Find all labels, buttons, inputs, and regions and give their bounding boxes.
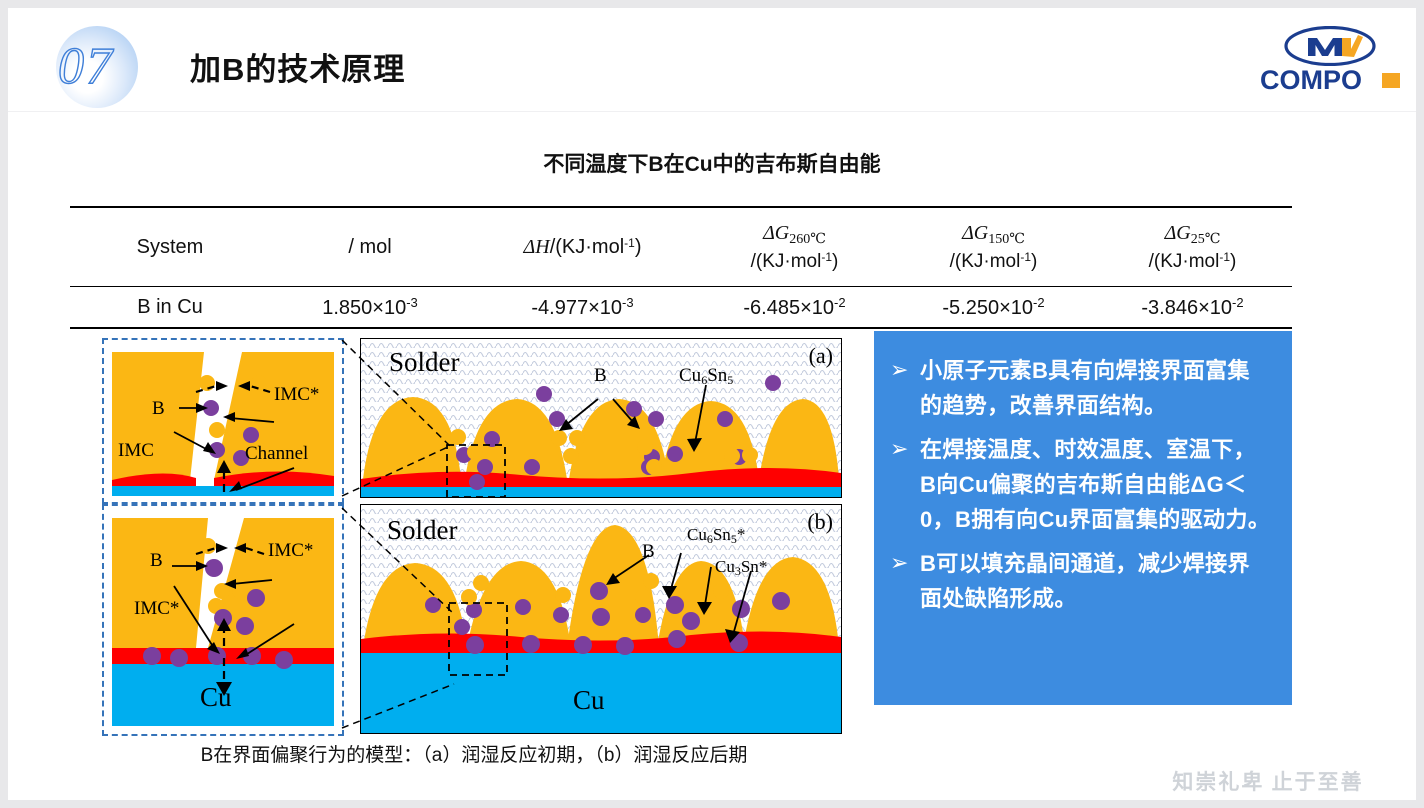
cell-dg150: -5.250×10-2 xyxy=(894,287,1093,329)
inset-b-label-b: B xyxy=(150,550,163,572)
bullet-arrow-icon: ➢ xyxy=(890,546,920,616)
cell-enthalpy: -4.977×10-3 xyxy=(470,287,695,329)
panel-a-label-cu6sn5: Cu6Sn5 xyxy=(679,365,733,388)
figure-area: B IMC IMC* Channel xyxy=(94,336,854,734)
inset-b-label-cu: Cu xyxy=(200,682,232,713)
col-header-mol: / mol xyxy=(270,207,470,287)
dg260-unit: /(KJ·mol-1) xyxy=(695,250,894,273)
dg25-unit: /(KJ·mol-1) xyxy=(1093,250,1292,273)
cell-mol: 1.850×10-3 xyxy=(270,287,470,329)
main-panel-b: (b) Solder B Cu6Sn5* Cu3Sn* Cu xyxy=(360,504,842,734)
inset-b-label-imc-star-left: IMC* xyxy=(134,598,179,620)
page-title: 加B的技术原理 xyxy=(190,44,405,89)
bullet-text-2: 在焊接温度、时效温度、室温下，B向Cu偏聚的吉布斯自由能ΔG＜0，B拥有向Cu界… xyxy=(920,432,1272,537)
table-header-row: System / mol ΔH/(KJ·mol-1) ΔG260℃ /(KJ·m… xyxy=(70,207,1292,287)
bullet-text-3: B可以填充晶间通道，减少焊接界面处缺陷形成。 xyxy=(920,546,1272,616)
inset-a-label-imc: IMC xyxy=(118,440,154,462)
compo-logo: COMPO xyxy=(1260,26,1400,100)
dg25-symbol: ΔG25℃ xyxy=(1165,222,1221,244)
bullet-arrow-icon: ➢ xyxy=(890,353,920,423)
main-panel-a: (a) Solder B Cu6Sn5 xyxy=(360,338,842,498)
dg150-unit: /(KJ·mol-1) xyxy=(894,250,1093,273)
dg150-temp: 150℃ xyxy=(988,232,1025,247)
logo-wordmark: COMPO xyxy=(1260,64,1380,96)
dh-unit-exp: -1 xyxy=(624,236,635,250)
table-title: 不同温度下B在Cu中的吉布斯自由能 xyxy=(8,148,1416,178)
slide-canvas: 07 加B的技术原理 COMPO 不同温度下B在Cu中的吉布斯自由能 Syste… xyxy=(8,8,1416,800)
dg150-symbol: ΔG150℃ xyxy=(962,222,1025,244)
cell-dg25: -3.846×10-2 xyxy=(1093,287,1292,329)
panel-b-label-cu6sn5-star: Cu6Sn5* xyxy=(687,525,745,547)
bullet-item-1: ➢ 小原子元素B具有向焊接界面富集的趋势，改善界面结构。 xyxy=(890,353,1272,423)
figure-caption: B在界面偏聚行为的模型：（a）润湿反应初期，（b）润湿反应后期 xyxy=(94,740,854,767)
col-header-system: System xyxy=(70,207,270,287)
inset-panel-b: B IMC* IMC* Cu xyxy=(102,504,344,736)
dg260-symbol: ΔG260℃ xyxy=(763,222,826,244)
bullet-arrow-icon: ➢ xyxy=(890,432,920,537)
panel-a-tag: (a) xyxy=(809,343,833,369)
inset-panel-a: B IMC IMC* Channel xyxy=(102,338,344,504)
logo-square-accent xyxy=(1382,73,1400,88)
key-points-box: ➢ 小原子元素B具有向焊接界面富集的趋势，改善界面结构。 ➢ 在焊接温度、时效温… xyxy=(874,331,1292,705)
col-header-enthalpy: ΔH/(KJ·mol-1) xyxy=(470,207,695,287)
dh-symbol: ΔH xyxy=(524,236,550,258)
dh-unit-prefix: /(KJ·mol xyxy=(550,236,624,258)
footer-motto: 知崇礼卑 止于至善 xyxy=(1138,766,1398,796)
col-header-dg150: ΔG150℃ /(KJ·mol-1) xyxy=(894,207,1093,287)
header-divider xyxy=(8,111,1416,112)
inset-a-label-b: B xyxy=(152,398,165,420)
panel-a-label-b: B xyxy=(594,365,607,387)
panel-a-label-solder: Solder xyxy=(389,347,460,378)
bullet-item-3: ➢ B可以填充晶间通道，减少焊接界面处缺陷形成。 xyxy=(890,546,1272,616)
inset-a-graphic xyxy=(104,340,342,502)
panel-b-tag: (b) xyxy=(807,509,833,535)
m-oval-icon xyxy=(1284,26,1376,66)
table-row: B in Cu 1.850×10-3 -4.977×10-3 -6.485×10… xyxy=(70,287,1292,329)
col-header-dg25: ΔG25℃ /(KJ·mol-1) xyxy=(1093,207,1292,287)
dg25-temp: 25℃ xyxy=(1191,232,1221,247)
col-header-dg260: ΔG260℃ /(KJ·mol-1) xyxy=(695,207,894,287)
dh-unit-suffix: ) xyxy=(635,236,642,258)
inset-a-label-channel: Channel xyxy=(245,443,308,465)
slide-header: 07 加B的技术原理 COMPO xyxy=(8,8,1416,112)
inset-a-label-imc-star: IMC* xyxy=(274,384,319,406)
cell-system: B in Cu xyxy=(70,287,270,329)
bullet-item-2: ➢ 在焊接温度、时效温度、室温下，B向Cu偏聚的吉布斯自由能ΔG＜0，B拥有向C… xyxy=(890,432,1272,537)
section-number: 07 xyxy=(58,34,168,100)
panel-b-label-solder: Solder xyxy=(387,515,458,546)
cell-dg260: -6.485×10-2 xyxy=(695,287,894,329)
panel-b-label-cu3sn-star: Cu3Sn* xyxy=(715,557,767,579)
bullet-text-1: 小原子元素B具有向焊接界面富集的趋势，改善界面结构。 xyxy=(920,353,1272,423)
inset-b-label-imc-star-right: IMC* xyxy=(268,540,313,562)
panel-b-label-cu: Cu xyxy=(573,685,605,716)
gibbs-table: System / mol ΔH/(KJ·mol-1) ΔG260℃ /(KJ·m… xyxy=(70,206,1292,329)
panel-b-label-b: B xyxy=(642,541,655,563)
dg260-temp: 260℃ xyxy=(789,232,826,247)
